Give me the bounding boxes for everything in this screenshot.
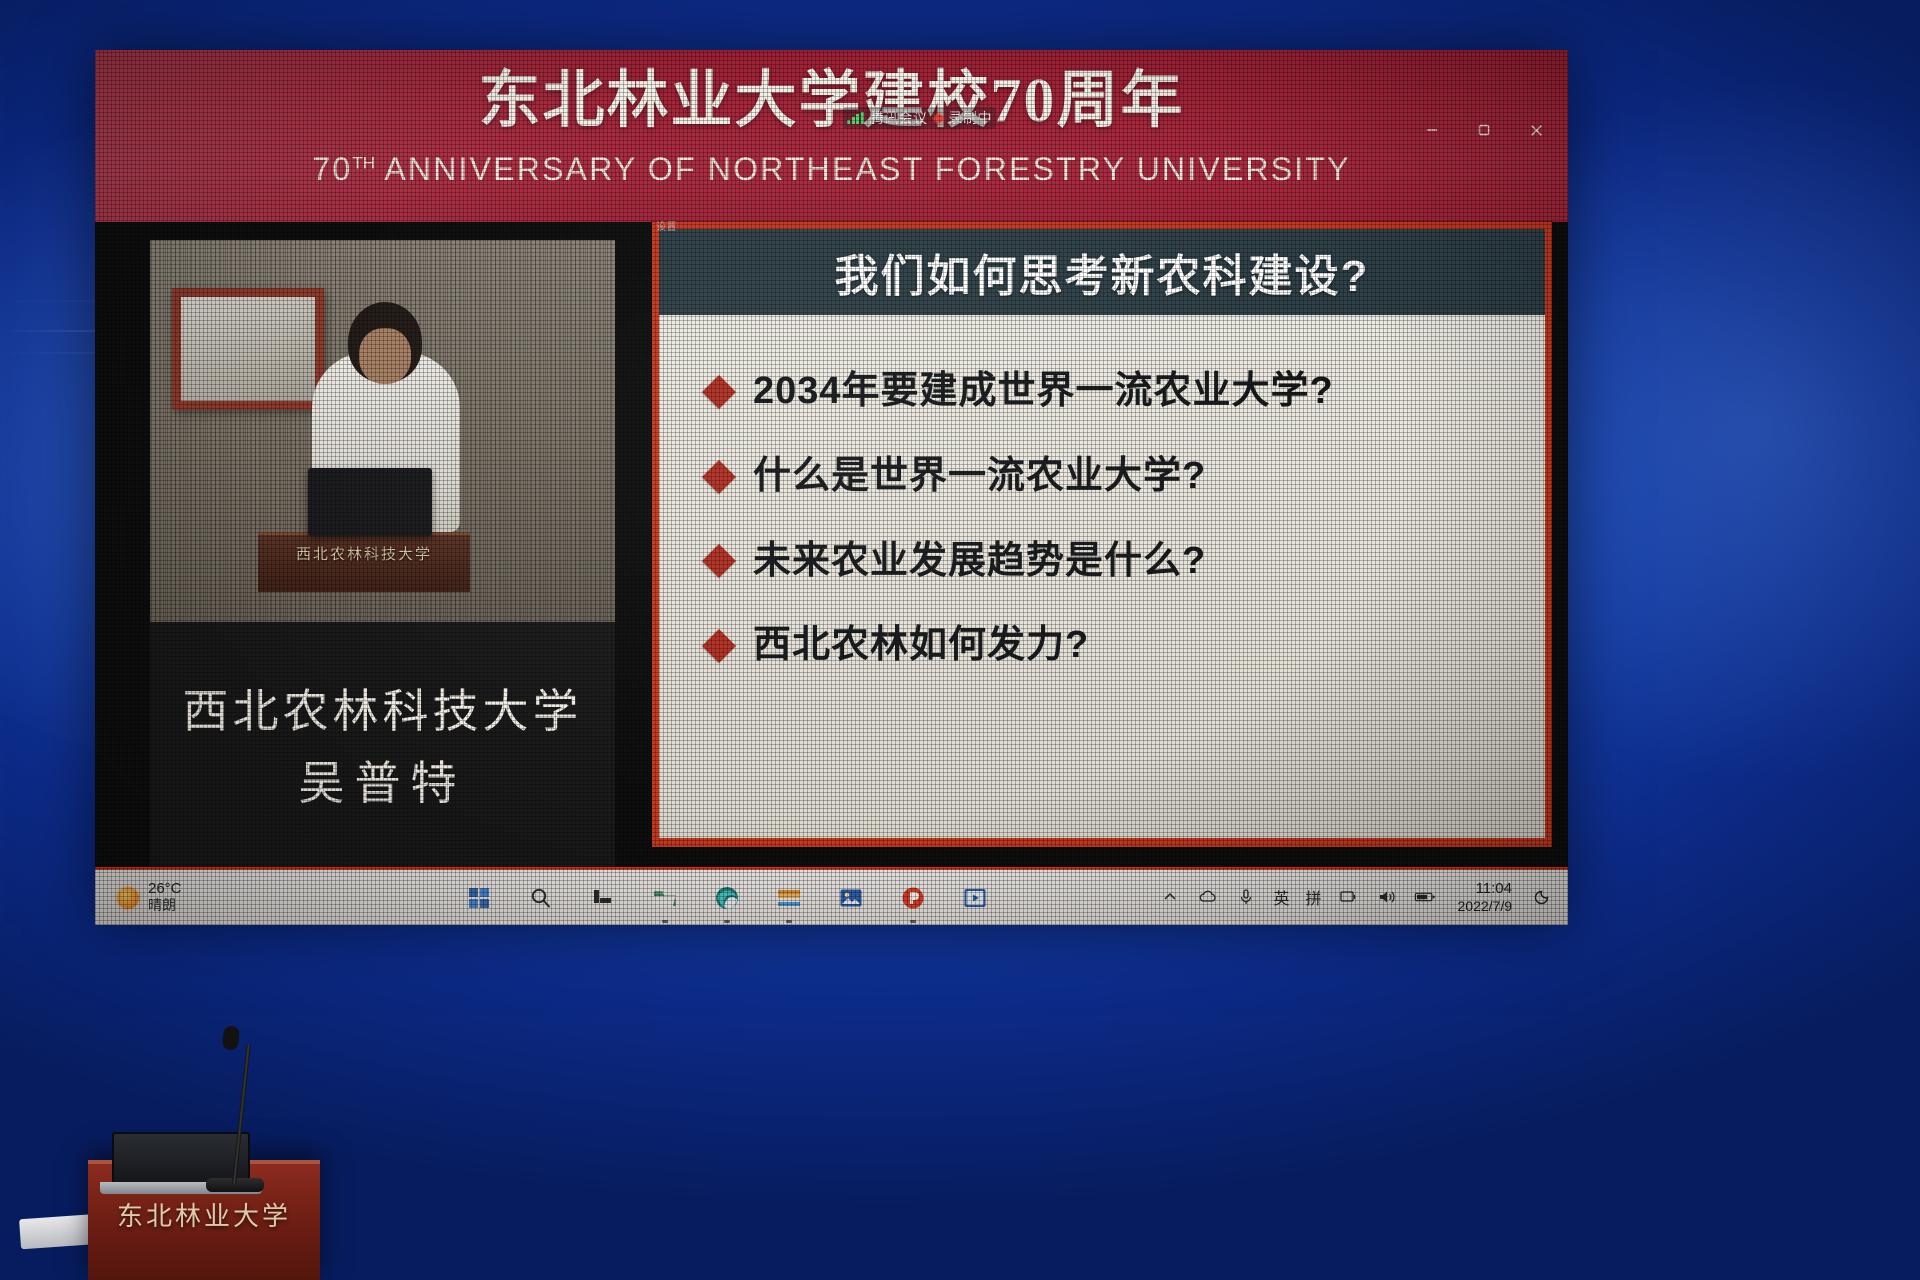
search-icon[interactable] [524,881,558,915]
meeting-app-name: 腾讯会议 [870,108,928,128]
folder-icon[interactable] [772,881,806,915]
bullet-text: 2034年要建成世界一流农业大学? [753,371,1334,413]
taskbar-app-icons[interactable] [295,881,1159,915]
weather-temperature: 26°C [148,881,182,898]
speaker-name: 吴普特 [299,761,467,807]
slide-canvas: 我们如何思考新农科建设? 2034年要建成世界一流农业大学? 什么是世界一流农业… [659,229,1545,838]
framed-picture [172,288,324,410]
clock-date: 2022/7/9 [1458,898,1513,915]
slide-bullet-list: 2034年要建成世界一流农业大学? 什么是世界一流农业大学? 未来农业发展趋势是… [659,315,1545,838]
diamond-bullet-icon [702,460,736,494]
speaker-laptop [308,468,432,536]
slide-window-tag: 设置 [656,218,677,233]
photos-icon[interactable] [834,881,868,915]
edge-browser-icon[interactable] [710,881,744,915]
notification-icon[interactable] [1532,887,1552,907]
diamond-bullet-icon [702,545,736,579]
diamond-bullet-icon [702,629,736,663]
anniversary-banner: 东北林业大学建校70周年 70TH ANNIVERSARY OF NORTHEA… [95,50,1568,222]
slide-title-bar: 我们如何思考新农科建设? [659,229,1545,315]
microphone-icon[interactable] [1235,886,1257,908]
battery-icon[interactable] [1414,886,1436,908]
recording-status-label: 录制中 [949,108,993,128]
list-item: 什么是世界一流农业大学? [707,456,1505,498]
banner-title-english-prefix: 70 [312,151,352,187]
windows-taskbar[interactable]: 26°C 晴朗 [95,867,1568,925]
led-display-screen: 东北林业大学建校70周年 70TH ANNIVERSARY OF NORTHEA… [95,50,1568,925]
cloud-icon[interactable] [1197,886,1219,908]
diamond-bullet-icon [702,375,736,409]
taskbar-system-tray[interactable]: 英 拼 [1159,880,1568,914]
meeting-content-area: 西北农林科技大学 西北农林科技大学 吴普特 设置 我们如何思考新农科建设? [95,222,1568,925]
close-icon[interactable] [1510,110,1562,150]
sun-icon [117,887,139,909]
minimize-icon[interactable] [1406,110,1458,150]
task-view-icon[interactable] [586,881,620,915]
window-controls[interactable] [1406,110,1562,150]
ime-language-indicator[interactable]: 英 [1273,885,1289,909]
banner-title-english: 70TH ANNIVERSARY OF NORTHEAST FORESTRY U… [95,153,1568,187]
taskbar-clock[interactable]: 11:04 2022/7/9 [1452,880,1513,914]
tencent-meeting-window[interactable]: 东北林业大学建校70周年 70TH ANNIVERSARY OF NORTHEA… [95,50,1568,925]
signal-bars-icon [847,112,864,124]
powerpoint-icon[interactable] [896,881,930,915]
bullet-text: 西北农林如何发力? [753,625,1089,667]
banner-title-english-rest: ANNIVERSARY OF NORTHEAST FORESTRY UNIVER… [384,151,1350,187]
taskbar-weather-widget[interactable]: 26°C 晴朗 [95,881,295,913]
weather-condition: 晴朗 [148,898,182,914]
volume-icon[interactable] [1376,886,1398,908]
media-player-icon[interactable] [958,881,992,915]
clock-time: 11:04 [1476,880,1512,898]
chevron-up-icon[interactable] [1159,886,1181,908]
list-item: 未来农业发展趋势是什么? [707,541,1505,583]
bullet-text: 什么是世界一流农业大学? [753,456,1206,498]
file-explorer-icon[interactable] [648,881,682,915]
list-item: 2034年要建成世界一流农业大学? [707,371,1505,413]
list-item: 西北农林如何发力? [707,625,1505,667]
banner-title-chinese: 东北林业大学建校70周年 [95,70,1568,132]
speaker-name-caption: 西北农林科技大学 吴普特 [150,622,615,890]
speaker-camera-feed: 西北农林科技大学 [150,240,615,622]
display-icon[interactable] [1338,886,1360,908]
recording-dot-icon [934,114,943,123]
shared-presentation-slide[interactable]: 设置 我们如何思考新农科建设? 2034年要建成世界一流农业大学? 什么是世界一… [652,222,1552,847]
speaker-face [359,328,411,384]
restore-icon[interactable] [1458,110,1510,150]
speaker-video-tile[interactable]: 西北农林科技大学 西北农林科技大学 吴普特 [150,240,615,890]
slide-title: 我们如何思考新农科建设? [835,240,1370,304]
podium-nameplate: 东北林业大学 [88,1196,320,1233]
speaker-podium-label: 西北农林科技大学 [258,543,470,564]
recording-status-overlay: 腾讯会议 录制中 [843,107,996,129]
bullet-text: 未来农业发展趋势是什么? [753,541,1206,583]
ime-pinyin-indicator[interactable]: 拼 [1305,885,1321,909]
speaker-organization: 西北农林科技大学 [183,689,583,735]
podium-laptop-screen [112,1132,250,1184]
banner-title-ordinal-suffix: TH [352,153,375,172]
start-button[interactable] [462,881,496,915]
